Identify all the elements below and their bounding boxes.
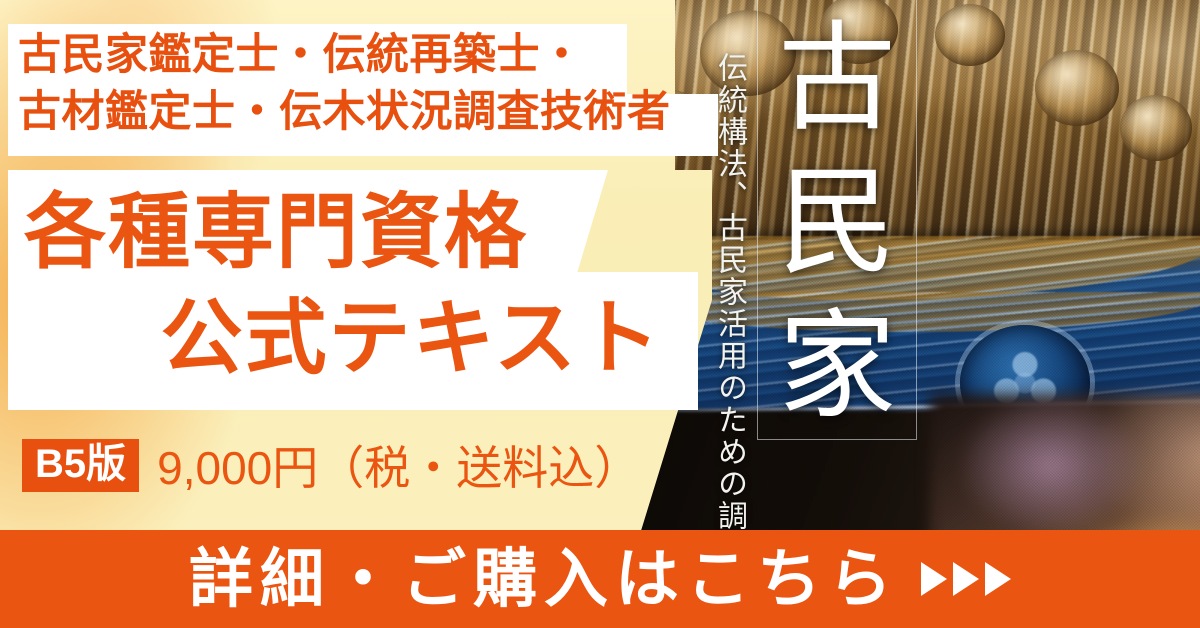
book-title-vertical: 古 民 家 [757, 8, 917, 438]
chevron-right-icon [985, 562, 1011, 596]
book-title-char: 古 [778, 8, 896, 152]
chevron-right-icon [953, 562, 979, 596]
page-title-line2: 公式テキスト [24, 288, 684, 390]
page-title-line1: 各種専門資格 [24, 182, 684, 284]
book-title-char: 民 [778, 152, 896, 296]
chevron-right-icon [921, 562, 947, 596]
qualifications-heading-line2: 古材鑑定士・伝木状況調査技術者 [18, 83, 718, 142]
format-badge: B5版 [22, 439, 139, 492]
cta-bar[interactable]: 詳細・ご購入はこちら [0, 530, 1200, 628]
book-title-char: 家 [778, 296, 896, 440]
cta-text-wrap: 詳細・ご購入はこちら [189, 547, 1011, 611]
cta-label: 詳細・ご購入はこちら [189, 547, 899, 611]
promo-banner: 古 民 家 伝統構法、古民家活用のための調査と再生の 古民家鑑定士・伝統再築士・… [0, 0, 1200, 628]
qualifications-heading: 古民家鑑定士・伝統再築士・ 古材鑑定士・伝木状況調査技術者 [18, 26, 718, 143]
price-row: B5版 9,000円（税・送料込） [22, 432, 640, 498]
qualifications-heading-line1: 古民家鑑定士・伝統再築士・ [18, 26, 718, 85]
cta-arrows [921, 562, 1011, 596]
price-amount: 9,000円（税・送料込） [157, 432, 640, 498]
page-title: 各種専門資格 公式テキスト [24, 182, 684, 389]
